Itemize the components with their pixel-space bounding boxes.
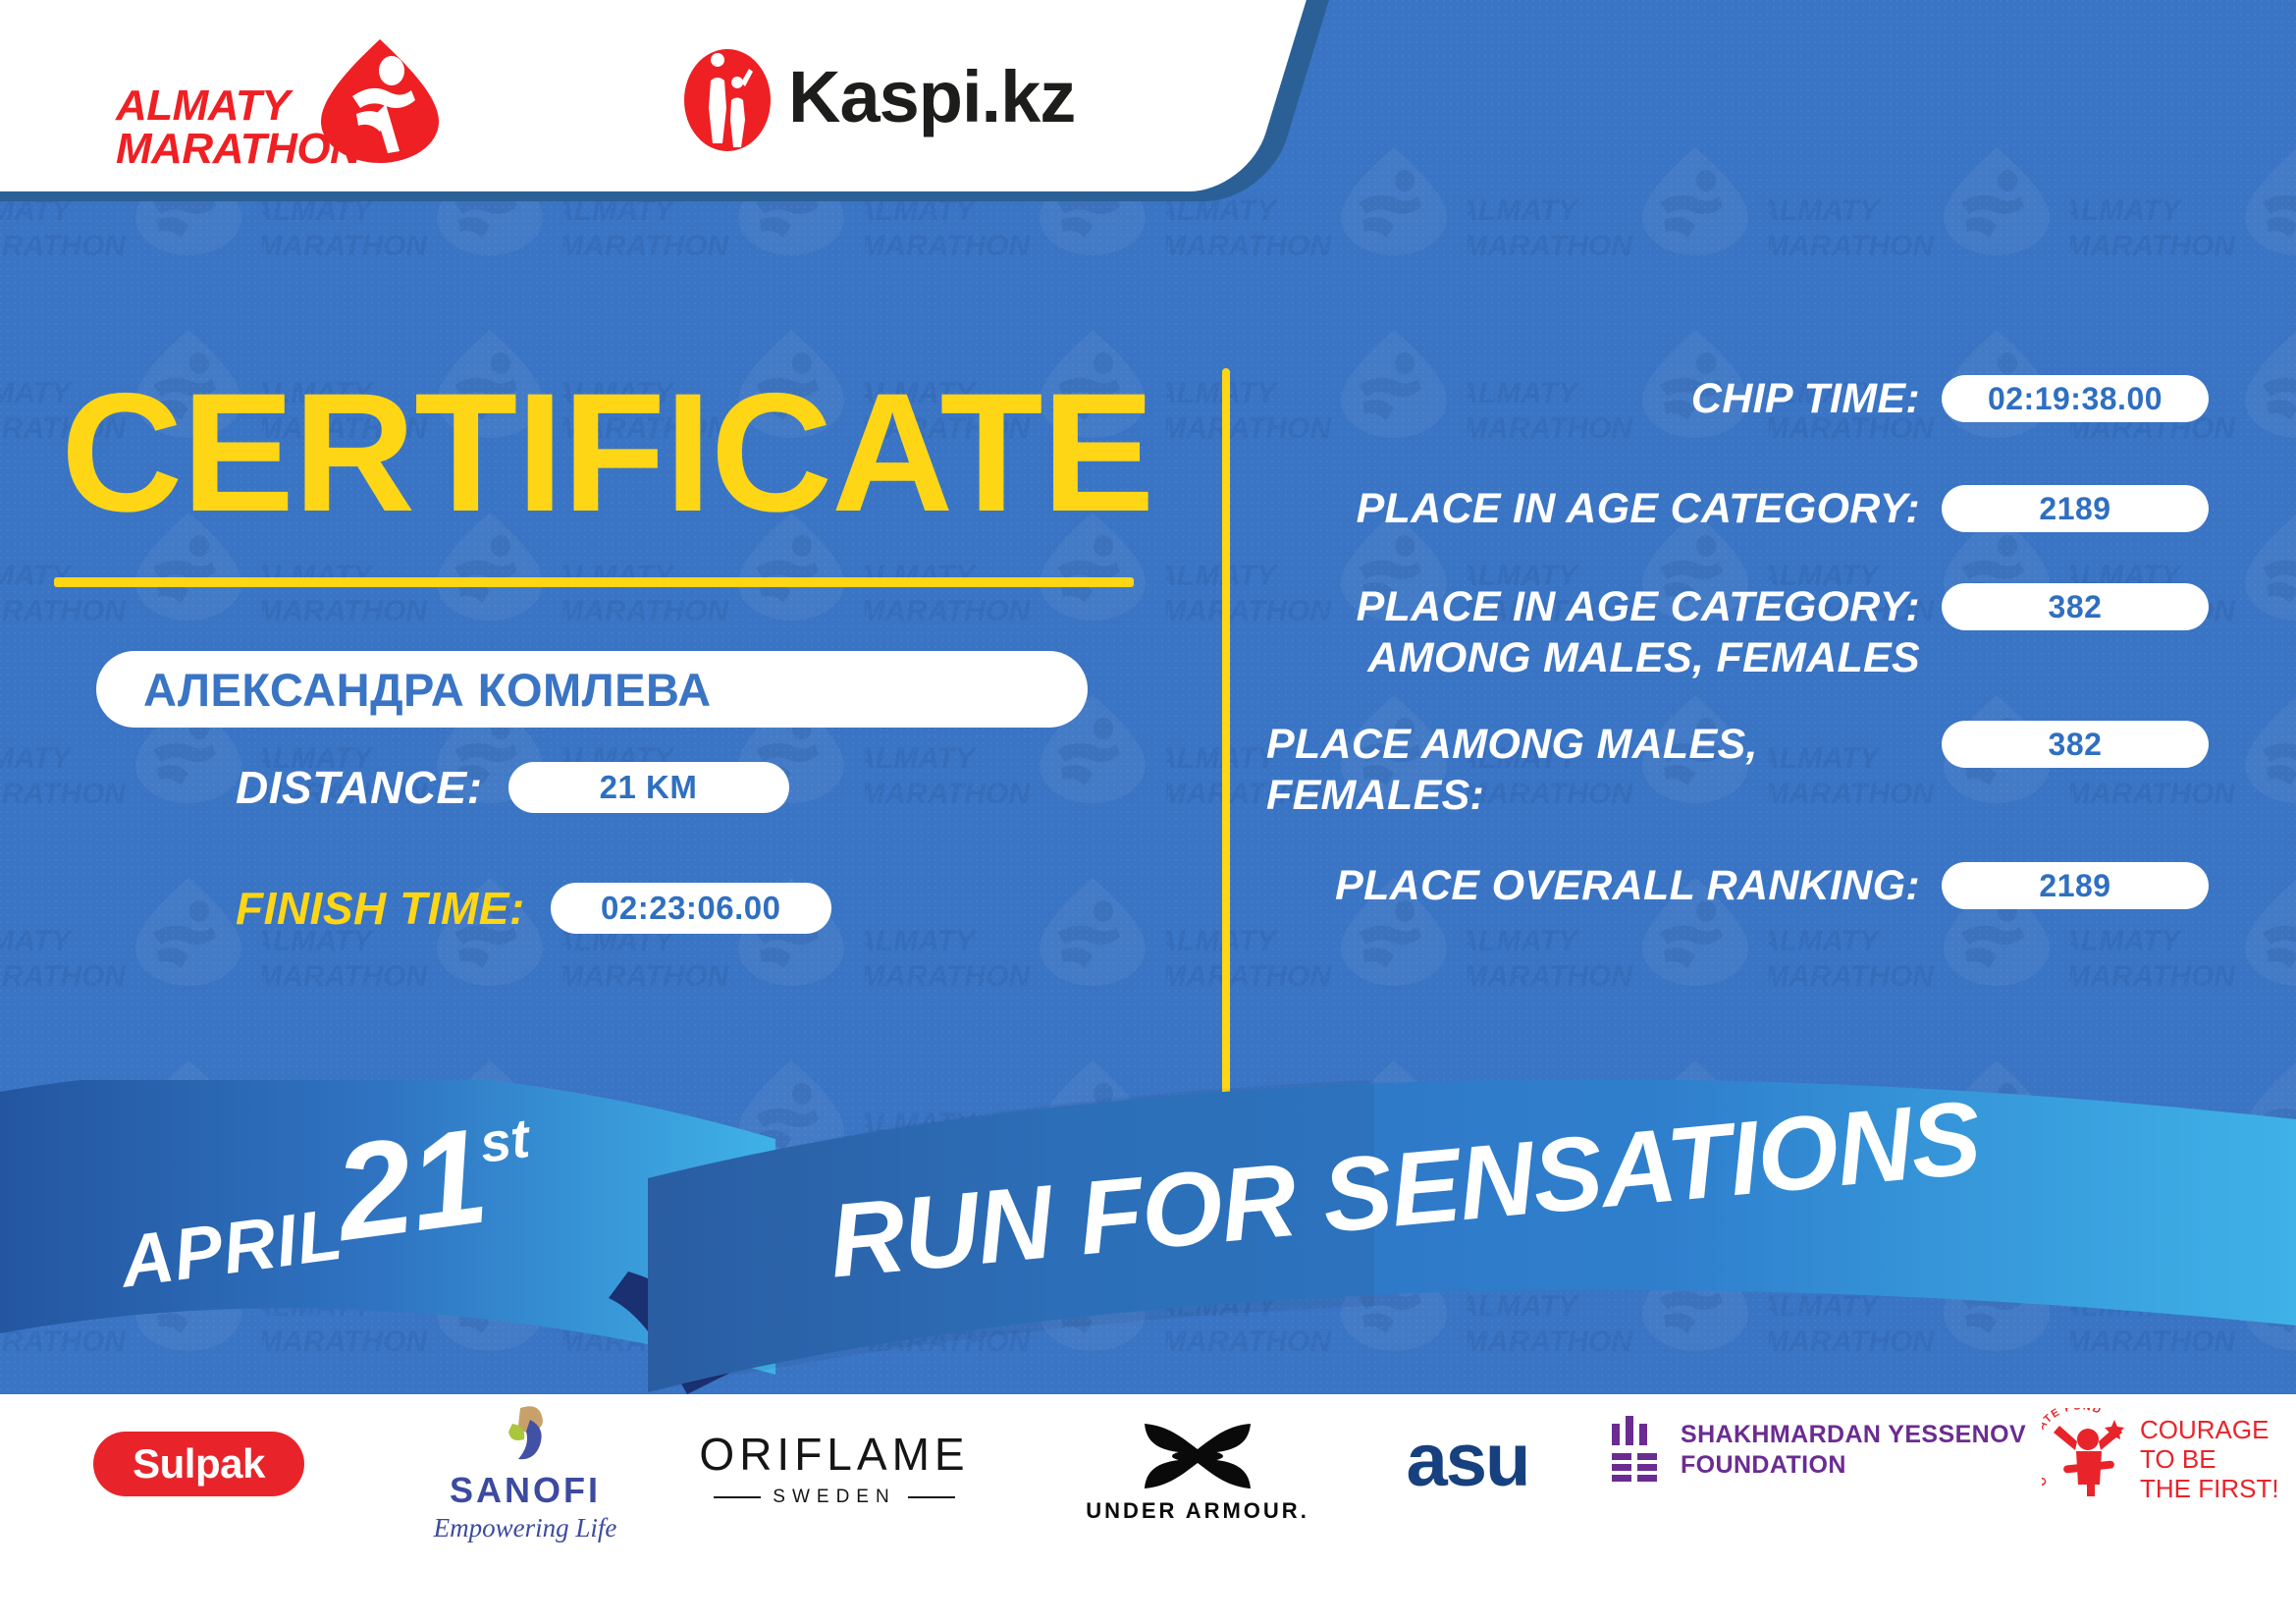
svg-text:MARATHON: MARATHON (2070, 230, 2236, 262)
stat-value: 2189 (2039, 868, 2110, 904)
sanofi-mark-icon (491, 1404, 560, 1463)
stat-label: PLACE IN AGE CATEGORY: AMONG MALES, FEMA… (1266, 581, 1942, 683)
stat-value: 382 (2049, 589, 2103, 625)
stat-label-line1: PLACE IN AGE CATEGORY: (1266, 581, 1920, 632)
svg-text:ALMATY: ALMATY (262, 560, 375, 592)
svg-text:ALMATY: ALMATY (2070, 194, 2183, 227)
almaty-marathon-logo: ALMATY MARATHON (116, 37, 440, 165)
svg-text:MARATHON: MARATHON (1769, 230, 1935, 262)
svg-text:ALMATY: ALMATY (865, 742, 978, 775)
svg-text:ALMATY: ALMATY (0, 925, 74, 957)
stat-label-line1: PLACE IN AGE CATEGORY: (1266, 483, 1920, 534)
courage-line2: TO BE (2140, 1444, 2279, 1474)
courage-line1: COURAGE (2140, 1415, 2279, 1444)
sulpak-label: Sulpak (133, 1440, 265, 1488)
certificate-page: ALMATYMARATHONALMATYMARATHONALMATYMARATH… (0, 0, 2296, 1624)
distance-label: DISTANCE: (236, 761, 483, 814)
sponsor-under-armour: UNDER ARMOUR. (1085, 1420, 1310, 1524)
yessenov-mark-icon (1610, 1416, 1663, 1485)
under-armour-label: UNDER ARMOUR. (1085, 1498, 1310, 1524)
finish-time-value: 02:23:06.00 (601, 890, 780, 927)
distance-value-field: 21 KM (508, 762, 789, 813)
stat-row: PLACE AMONG MALES, FEMALES: 382 (1266, 719, 2209, 821)
svg-text:MARATHON: MARATHON (563, 230, 729, 262)
watermark-tile: ALMATYMARATHON (1468, 137, 1769, 320)
svg-text:MARATHON: MARATHON (0, 230, 127, 262)
stat-value: 382 (2049, 727, 2103, 763)
oriflame-name: ORIFLAME (687, 1428, 982, 1481)
watermark-tile: ALMATYMARATHON (1769, 137, 2070, 320)
header-logos: ALMATY MARATHON Kaspi.kz (0, 0, 1178, 196)
asu-label: asu (1369, 1418, 1566, 1503)
svg-text:ALMATY: ALMATY (1468, 194, 1580, 227)
finish-time-value-field: 02:23:06.00 (551, 883, 831, 934)
watermark-tile: ALMATYMARATHON (865, 868, 1166, 1051)
svg-text:MARATHON: MARATHON (865, 778, 1031, 810)
sanofi-name: SANOFI (402, 1470, 648, 1511)
sanofi-tagline: Empowering Life (402, 1513, 648, 1543)
sponsor-yessenov-foundation: SHAKHMARDAN YESSENOV FOUNDATION (1610, 1416, 2032, 1485)
svg-text:MARATHON: MARATHON (1769, 960, 1935, 993)
oriflame-sub: SWEDEN (773, 1487, 895, 1508)
sponsor-sulpak: Sulpak (93, 1432, 304, 1496)
svg-text:MARATHON: MARATHON (1166, 230, 1332, 262)
stat-value-field: 02:19:38.00 (1942, 375, 2209, 422)
vertical-divider (1222, 368, 1230, 1100)
svg-text:ALMATY: ALMATY (0, 560, 74, 592)
yessenov-line2: FOUNDATION (1681, 1450, 2026, 1481)
participant-name-field: АЛЕКСАНДРА КОМЛЕВА (96, 651, 1088, 728)
svg-text:ALMATY: ALMATY (0, 742, 74, 775)
svg-text:MARATHON: MARATHON (563, 960, 729, 993)
svg-text:MARATHON: MARATHON (1468, 960, 1633, 993)
svg-text:MARATHON: MARATHON (262, 230, 428, 262)
oriflame-rule-left (714, 1496, 761, 1498)
svg-text:MARATHON: MARATHON (1166, 960, 1332, 993)
svg-text:MARATHON: MARATHON (865, 960, 1031, 993)
svg-text:MARATHON: MARATHON (2070, 960, 2236, 993)
stat-row: PLACE IN AGE CATEGORY: AMONG MALES, FEMA… (1266, 581, 2209, 683)
stat-label: PLACE IN AGE CATEGORY: (1266, 483, 1942, 534)
finish-time-row: FINISH TIME: 02:23:06.00 (236, 882, 831, 935)
stat-label-line2: AMONG MALES, FEMALES (1266, 632, 1920, 683)
sponsor-bar: Sulpak SANOFI Empowering Life ORIFLAME S… (0, 1426, 2296, 1602)
stats-panel: CHIP TIME: 02:19:38.00 PLACE IN AGE CATE… (1266, 373, 2209, 937)
distance-row: DISTANCE: 21 KM (236, 761, 789, 814)
stat-label: PLACE OVERALL RANKING: (1266, 860, 1942, 911)
stat-value-field: 382 (1942, 721, 2209, 768)
stat-value-field: 2189 (1942, 485, 2209, 532)
stat-label-line1: PLACE AMONG MALES, (1266, 719, 1920, 770)
stat-value-field: 382 (1942, 583, 2209, 630)
almaty-logo-line1: ALMATY (116, 81, 290, 130)
svg-text:MARATHON: MARATHON (563, 595, 729, 627)
stat-label-line1: PLACE OVERALL RANKING: (1266, 860, 1920, 911)
courage-line3: THE FIRST! (2140, 1474, 2279, 1503)
svg-text:MARATHON: MARATHON (262, 595, 428, 627)
finish-time-label: FINISH TIME: (236, 882, 525, 935)
watermark-tile: ALMATYMARATHON (0, 868, 262, 1051)
title-divider (54, 577, 1134, 587)
svg-text:ALMATY: ALMATY (563, 560, 676, 592)
svg-text:MARATHON: MARATHON (0, 960, 127, 993)
stat-row: CHIP TIME: 02:19:38.00 (1266, 373, 2209, 424)
sponsor-courage-fund: CORPORATE FUND COURAGE TO BE THE FIRST! (2042, 1408, 2287, 1510)
stat-value-field: 2189 (1942, 862, 2209, 909)
participant-name: АЛЕКСАНДРА КОМЛЕВА (143, 663, 712, 717)
kaspi-person-icon (680, 49, 774, 152)
courage-fund-icon: CORPORATE FUND (2042, 1408, 2132, 1510)
svg-text:MARATHON: MARATHON (865, 230, 1031, 262)
ribbon-day: 21 (327, 1101, 494, 1270)
sponsor-oriflame: ORIFLAME SWEDEN (687, 1428, 982, 1508)
svg-text:MARATHON: MARATHON (0, 778, 127, 810)
distance-value: 21 KM (600, 769, 698, 806)
stat-row: PLACE IN AGE CATEGORY: 2189 (1266, 483, 2209, 534)
stat-label-line2: FEMALES: (1266, 770, 1920, 821)
ribbon-ordinal: st (476, 1107, 533, 1174)
runner-drop-icon (317, 37, 443, 163)
svg-text:ALMATY: ALMATY (865, 560, 978, 592)
under-armour-icon (1139, 1420, 1256, 1492)
yessenov-line1: SHAKHMARDAN YESSENOV (1681, 1420, 2026, 1450)
sponsor-sanofi: SANOFI Empowering Life (402, 1404, 648, 1532)
svg-text:ALMATY: ALMATY (1769, 194, 1882, 227)
stat-label: PLACE AMONG MALES, FEMALES: (1266, 719, 1942, 821)
stat-label: CHIP TIME: (1266, 373, 1942, 424)
svg-text:ALMATY: ALMATY (865, 925, 978, 957)
svg-text:MARATHON: MARATHON (1468, 230, 1633, 262)
svg-text:MARATHON: MARATHON (262, 960, 428, 993)
kaspi-logo: Kaspi.kz (680, 49, 1093, 157)
svg-text:MARATHON: MARATHON (0, 595, 127, 627)
stat-row: PLACE OVERALL RANKING: 2189 (1266, 860, 2209, 911)
stat-label-line1: CHIP TIME: (1266, 373, 1920, 424)
page-title: CERTIFICATE (61, 368, 1153, 537)
svg-text:MARATHON: MARATHON (865, 595, 1031, 627)
watermark-tile: ALMATYMARATHON (2070, 137, 2296, 320)
stat-value: 2189 (2039, 491, 2110, 527)
sponsor-asu: asu (1369, 1418, 1566, 1503)
kaspi-logo-text: Kaspi.kz (788, 55, 1075, 138)
oriflame-rule-right (908, 1496, 955, 1498)
stat-value: 02:19:38.00 (1988, 381, 2163, 417)
